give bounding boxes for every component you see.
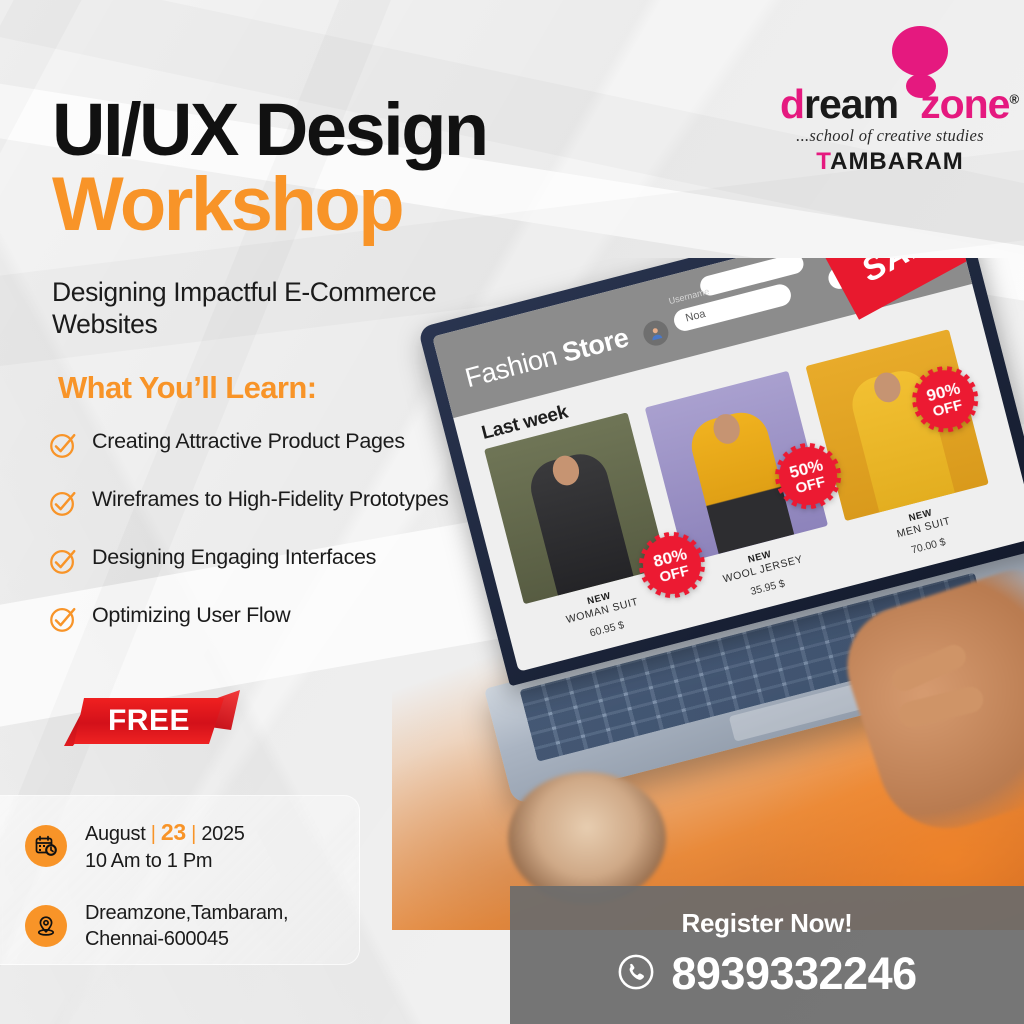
learn-section-title: What You’ll Learn: <box>58 370 316 406</box>
model-head <box>710 411 743 447</box>
logo-city: TAMBARAM <box>780 148 1000 176</box>
check-circle-icon <box>48 546 78 576</box>
phone-number: 8939332246 <box>671 948 916 1000</box>
list-item-label: Designing Engaging Interfaces <box>92 544 376 571</box>
check-circle-icon <box>48 604 78 634</box>
model-head <box>550 453 583 489</box>
list-item-label: Optimizing User Flow <box>92 602 290 629</box>
free-badge: FREE <box>62 690 240 752</box>
check-circle-icon <box>48 488 78 518</box>
event-day: 23 <box>161 819 186 845</box>
list-item-label: Creating Attractive Product Pages <box>92 428 405 455</box>
logo-registered-mark: ® <box>1009 91 1018 106</box>
event-date-text: August | 23 | 2025 10 Am to 1 Pm <box>85 818 245 874</box>
free-label: FREE <box>74 698 224 744</box>
calendar-clock-icon <box>25 825 67 867</box>
date-separator: | <box>151 823 156 845</box>
title-line-2: Workshop <box>52 170 487 240</box>
register-bar: Register Now! 8939332246 <box>510 886 1024 1024</box>
logo-city-rest: AMBARAM <box>830 148 964 175</box>
title-line-1: UI/UX Design <box>52 96 487 164</box>
poster-canvas: dreamzone® ...school of creative studies… <box>0 0 1024 1024</box>
venue-line-2: Chennai-600045 <box>85 928 229 950</box>
event-venue-row: Dreamzone,Tambaram, Chennai-600045 <box>25 900 288 952</box>
logo-wordmark: dreamzone® <box>780 84 1000 125</box>
laptop-photo: Fashion Store Username Noa SALE Last wee… <box>392 258 1024 930</box>
map-pin-icon <box>25 905 67 947</box>
event-info-card: August | 23 | 2025 10 Am to 1 Pm Dreamzo… <box>0 795 360 965</box>
date-separator: | <box>191 823 196 845</box>
coffee-cup <box>508 772 666 904</box>
venue-line-1: Dreamzone,Tambaram, <box>85 902 288 924</box>
logo-bubble-large-icon <box>892 26 948 76</box>
check-circle-icon <box>48 430 78 460</box>
brand-logo: dreamzone® ...school of creative studies… <box>780 22 1000 176</box>
register-title: Register Now! <box>510 908 1024 939</box>
model-figure <box>525 448 634 595</box>
event-month: August <box>85 823 145 845</box>
page-title: UI/UX Design Workshop <box>52 96 487 240</box>
model-head <box>871 370 904 406</box>
logo-tagline: ...school of creative studies <box>780 126 1000 146</box>
phone-row[interactable]: 8939332246 <box>510 948 1024 1000</box>
phone-circle-icon <box>617 953 655 996</box>
logo-word-d: d <box>780 81 804 127</box>
event-venue-text: Dreamzone,Tambaram, Chennai-600045 <box>85 900 288 952</box>
event-date-row: August | 23 | 2025 10 Am to 1 Pm <box>25 818 245 874</box>
logo-word-zone: zone <box>920 81 1009 127</box>
logo-city-initial: T <box>816 148 830 175</box>
logo-word-ream: ream <box>804 81 898 127</box>
event-year: 2025 <box>201 823 244 845</box>
event-time: 10 Am to 1 Pm <box>85 850 212 872</box>
username-value: Noa <box>684 308 707 325</box>
